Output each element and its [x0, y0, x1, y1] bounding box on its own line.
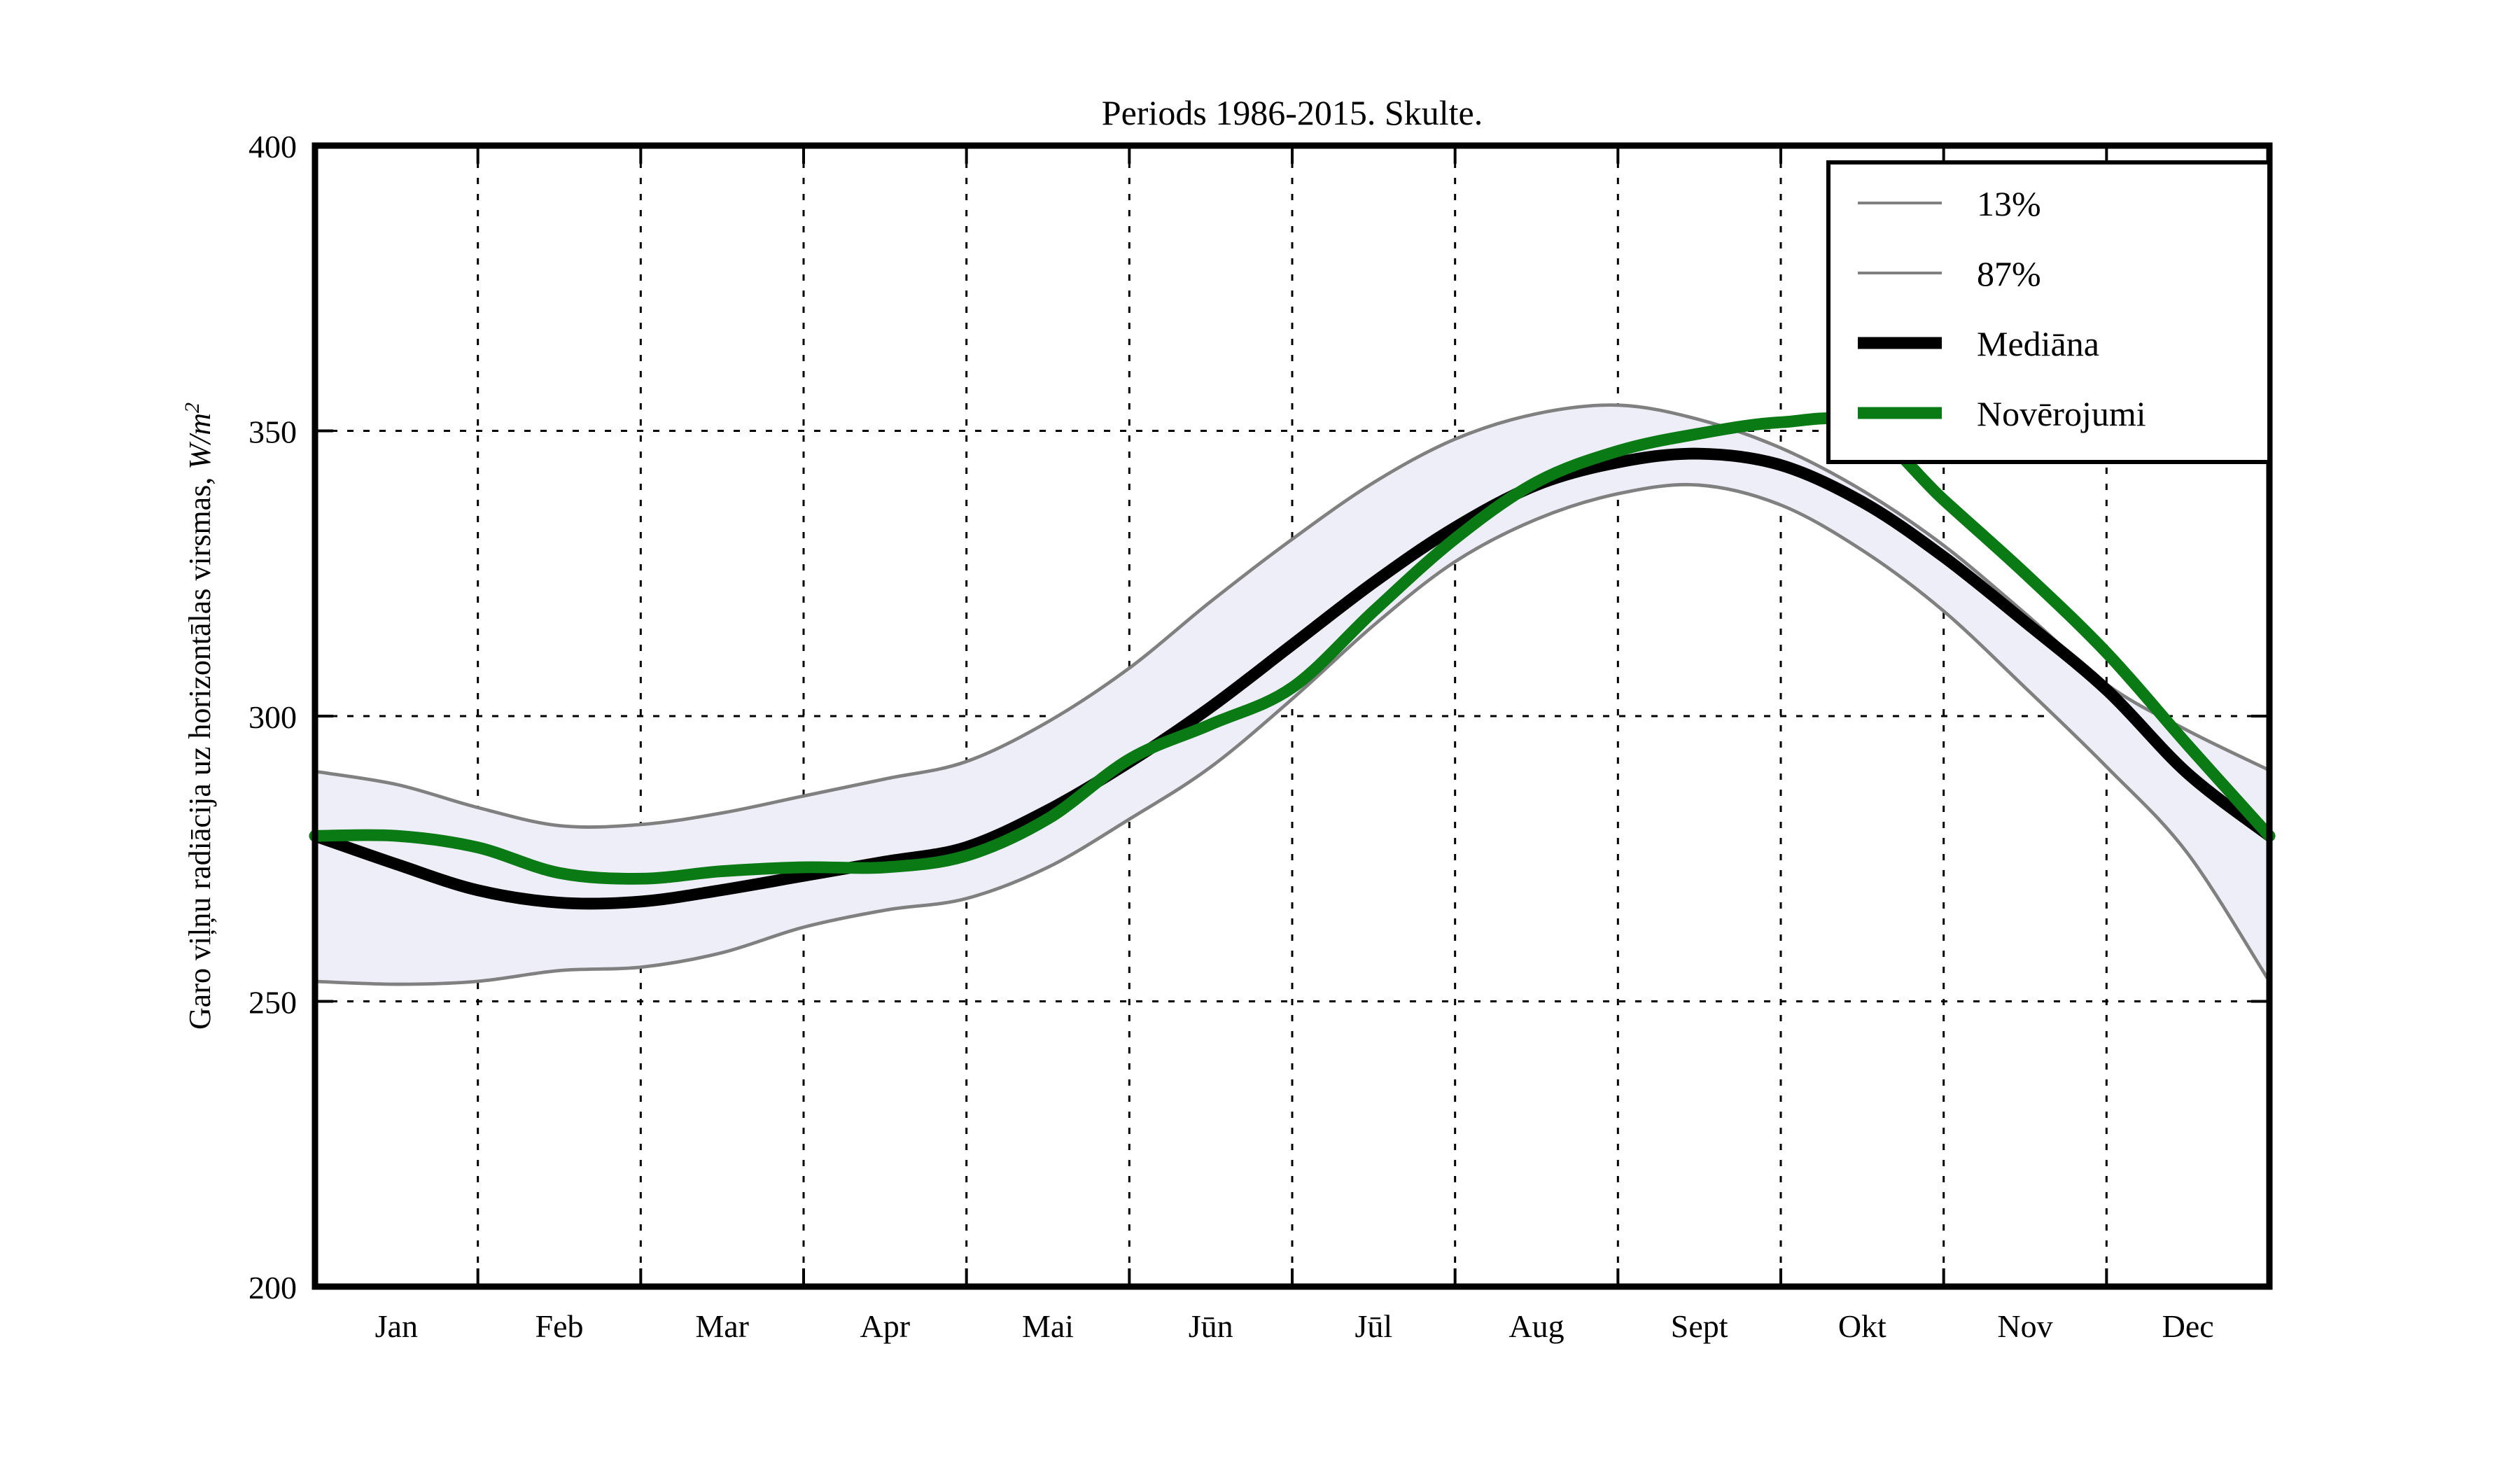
x-tick-label-nov: Nov: [1997, 1308, 2052, 1344]
x-tick-label-dec: Dec: [2162, 1308, 2214, 1344]
y-axis-label-units: W/m: [183, 413, 217, 470]
x-tick-label-apr: Apr: [860, 1308, 911, 1344]
y-tick-label-350: 350: [248, 414, 297, 450]
y-axis-label-exponent: 2: [181, 402, 204, 413]
chart-title: Periods 1986-2015. Skulte.: [1102, 93, 1483, 132]
legend-label: Novērojumi: [1977, 394, 2146, 433]
x-tick-label-mar: Mar: [695, 1308, 749, 1344]
y-axis-label: Garo viļņu radiācija uz horizontālas vir…: [181, 402, 217, 1030]
y-tick-label-300: 300: [248, 699, 297, 735]
y-tick-label-400: 400: [248, 129, 297, 164]
y-tick-label-250: 250: [248, 985, 297, 1021]
x-tick-label-feb: Feb: [535, 1308, 584, 1344]
legend-label: Mediāna: [1977, 324, 2099, 363]
figure-canvas: Periods 1986-2015. Skulte. Garo viļņu ra…: [0, 0, 2520, 1470]
x-tick-label-jan: Jan: [375, 1308, 418, 1344]
legend-label: 13%: [1977, 184, 2041, 223]
x-tick-label-aug: Aug: [1508, 1308, 1564, 1344]
x-tick-label-jūn: Jūn: [1189, 1308, 1233, 1344]
legend-label: 87%: [1977, 254, 2041, 293]
y-tick-label-200: 200: [248, 1270, 297, 1305]
y-axis-label-text: Garo viļņu radiācija uz horizontālas vir…: [183, 470, 217, 1030]
x-tick-label-jūl: Jūl: [1354, 1308, 1392, 1344]
chart-svg: Periods 1986-2015. Skulte. Garo viļņu ra…: [0, 0, 2520, 1470]
x-tick-label-sept: Sept: [1671, 1308, 1728, 1344]
svg-text:Garo viļņu radiācija uz horizo: Garo viļņu radiācija uz horizontālas vir…: [181, 402, 217, 1030]
x-tick-label-mai: Mai: [1022, 1308, 1074, 1344]
x-tick-label-okt: Okt: [1838, 1308, 1886, 1344]
legend[interactable]: 13%87%MediānaNovērojumi: [1828, 162, 2269, 462]
